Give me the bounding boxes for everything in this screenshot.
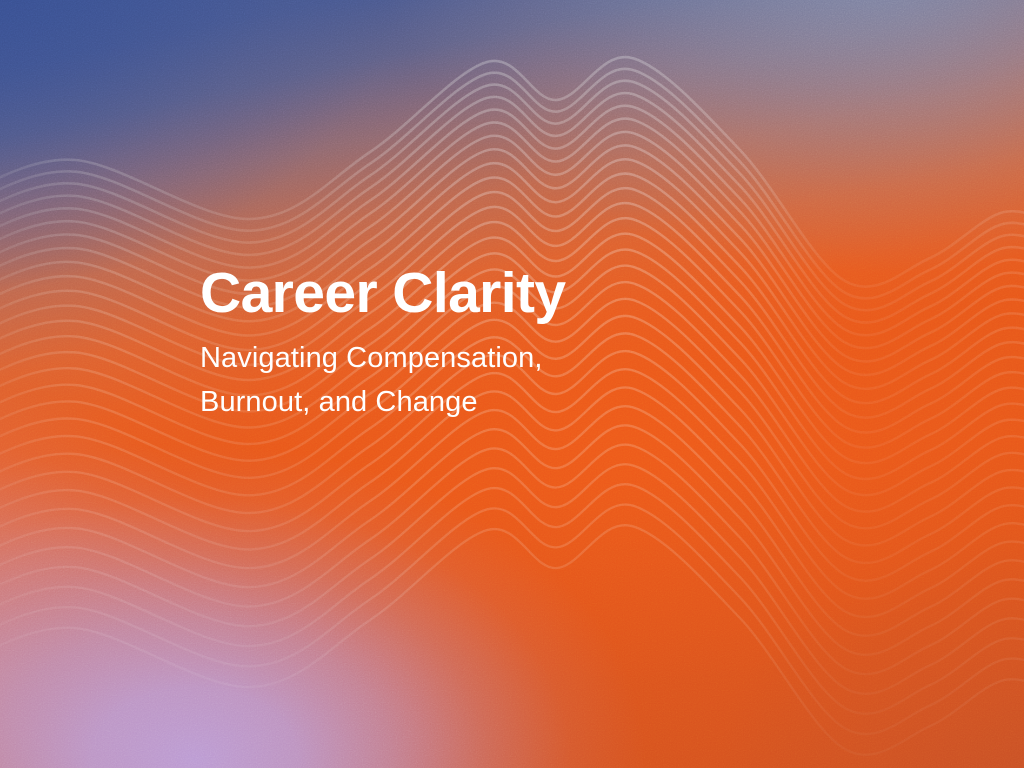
wave-line [0, 425, 1024, 655]
wave-line [0, 406, 1024, 636]
wave-line [0, 57, 1024, 287]
wave-line [0, 504, 1024, 734]
wave-line [0, 445, 1024, 675]
slide-subtitle-line-1: Navigating Compensation, [200, 336, 620, 380]
wave-line [0, 484, 1024, 714]
slide-subtitle-line-2: Burnout, and Change [200, 380, 620, 424]
wave-line [0, 464, 1024, 694]
slide-subtitle: Navigating Compensation, Burnout, and Ch… [200, 336, 620, 424]
presentation-slide: Career Clarity Navigating Compensation, … [0, 0, 1024, 768]
page-title: Career Clarity [200, 262, 900, 324]
wave-line [0, 525, 1024, 755]
slide-text-block: Career Clarity Navigating Compensation, … [200, 262, 900, 424]
